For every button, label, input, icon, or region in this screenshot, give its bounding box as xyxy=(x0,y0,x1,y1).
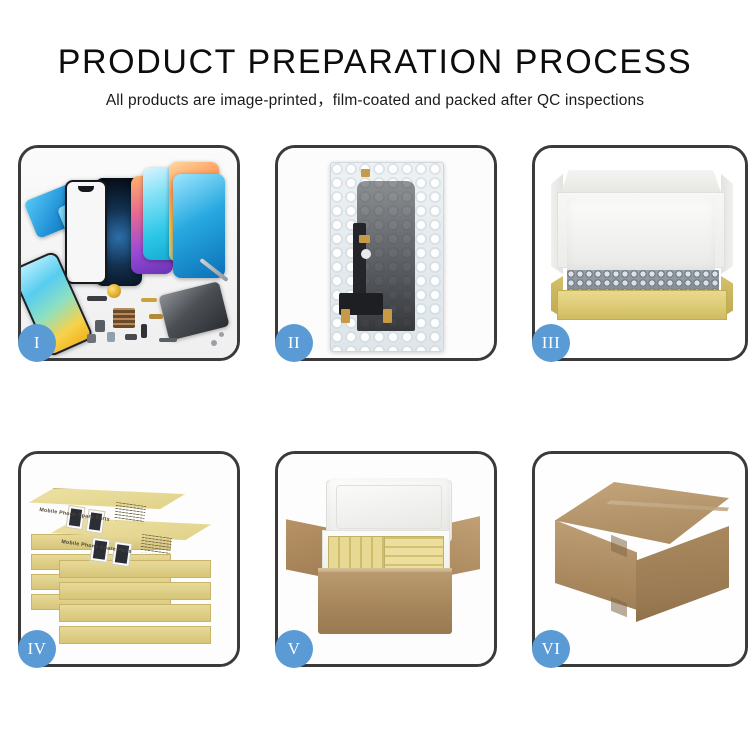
process-step-panel-3[interactable]: III xyxy=(532,145,748,361)
retail-box-side xyxy=(59,604,211,622)
step-4-image: Mobile Phone Spare Parts Mobile Phone Sp… xyxy=(21,454,237,664)
flex-cable-icon xyxy=(125,334,137,340)
box-art-text-lines xyxy=(140,534,172,556)
step-1-image xyxy=(21,148,237,358)
phone-screen-white-icon xyxy=(65,180,107,284)
gold-contact-icon xyxy=(359,235,370,243)
antenna-cable-icon xyxy=(159,338,177,342)
gold-contact-icon xyxy=(361,169,370,177)
retail-box-stack-icon: Mobile Phone Spare Parts Mobile Phone Sp… xyxy=(29,472,229,648)
step-badge-5: V xyxy=(275,630,313,668)
camera-hole-icon xyxy=(361,249,371,259)
retail-box-side xyxy=(59,626,211,644)
step-badge-2: II xyxy=(275,324,313,362)
step-badge-1: I xyxy=(18,324,56,362)
process-steps-grid: I II xyxy=(18,145,736,667)
spare-part-icon xyxy=(87,296,107,301)
step-2-image xyxy=(278,148,494,358)
step-badge-3: III xyxy=(532,324,570,362)
bubble-wrap-bag-icon xyxy=(330,162,444,352)
speaker-coil-icon xyxy=(107,284,121,298)
process-step-panel-4[interactable]: Mobile Phone Spare Parts Mobile Phone Sp… xyxy=(18,451,240,667)
process-step-panel-1[interactable]: I xyxy=(18,145,240,361)
chip-grid-icon xyxy=(113,308,135,328)
process-step-panel-5[interactable]: V xyxy=(275,451,497,667)
foam-box-lid-icon xyxy=(328,478,450,536)
step-badge-6: VI xyxy=(532,630,570,668)
process-step-panel-2[interactable]: II xyxy=(275,145,497,361)
process-step-panel-6[interactable]: VI xyxy=(532,451,748,667)
gold-strip-icon xyxy=(149,314,163,319)
product-preparation-process-page: PRODUCT PREPARATION PROCESS All products… xyxy=(0,0,750,750)
step-badge-4: IV xyxy=(18,630,56,668)
battery-connector-icon xyxy=(107,332,115,342)
retail-box-side xyxy=(59,560,211,578)
gold-connector-icon xyxy=(141,298,157,302)
vibrator-icon xyxy=(141,324,147,338)
page-title: PRODUCT PREPARATION PROCESS xyxy=(0,0,750,82)
camera-module-icon xyxy=(95,320,105,332)
sim-tray-icon xyxy=(87,334,96,343)
carton-front-panel-icon xyxy=(318,572,452,634)
step-3-image xyxy=(535,148,745,358)
step-6-image xyxy=(535,454,745,664)
screw-small-icon xyxy=(219,332,224,337)
phone-screen-blue-icon xyxy=(173,174,225,278)
header: PRODUCT PREPARATION PROCESS All products… xyxy=(0,0,750,112)
carton-right-panel-icon xyxy=(636,526,729,622)
gold-contact-icon xyxy=(341,309,350,323)
gold-contact-icon xyxy=(383,309,392,323)
page-subtitle: All products are image-printed，film-coat… xyxy=(0,82,750,112)
screw-icon xyxy=(211,340,217,346)
retail-box-side xyxy=(59,582,211,600)
box-front-panel-icon xyxy=(557,290,727,320)
foam-sheet-icon xyxy=(567,198,715,270)
step-5-image xyxy=(278,454,494,664)
